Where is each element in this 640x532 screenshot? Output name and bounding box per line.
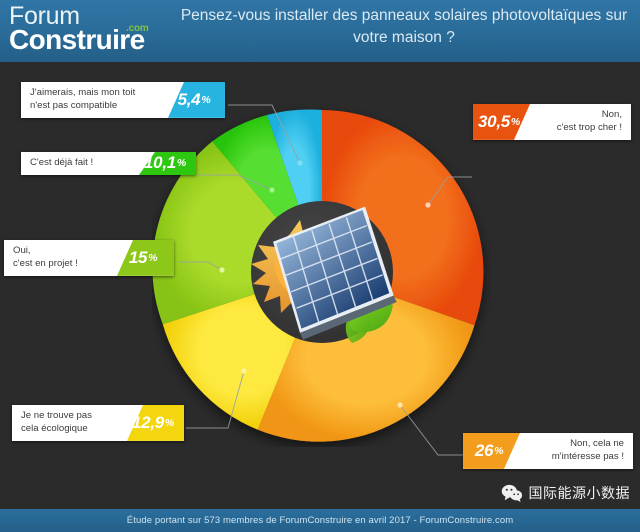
callout-label-non-pas-interesse: Non, cela ne m'intéresse pas ! bbox=[504, 433, 633, 469]
callout-label-pas-ecologique: Je ne trouve pas cela écologique bbox=[12, 405, 143, 441]
value-number: 30,5 bbox=[478, 112, 510, 132]
footer-bar: Étude portant sur 573 membres de ForumCo… bbox=[0, 509, 640, 532]
callout-non-trop-cher[interactable]: 30,5% Non, c'est trop cher ! bbox=[473, 104, 631, 140]
value-unit: % bbox=[148, 252, 157, 264]
watermark: 国际能源小数据 bbox=[501, 483, 631, 503]
infographic-canvas: Forum Construire .com Pensez-vous instal… bbox=[0, 0, 640, 532]
forum-construire-logo[interactable]: Forum Construire .com bbox=[9, 4, 174, 56]
callout-oui-en-projet[interactable]: Oui, c'est en projet ! 15% bbox=[4, 240, 174, 276]
footer-text: Étude portant sur 573 membres de ForumCo… bbox=[0, 509, 640, 532]
page-title: Pensez-vous installer des panneaux solai… bbox=[175, 5, 633, 50]
callout-label-cest-deja-fait: C'est déjà fait ! bbox=[21, 152, 155, 175]
callout-label-oui-en-projet: Oui, c'est en projet ! bbox=[4, 240, 133, 276]
callout-label-non-trop-cher: Non, c'est trop cher ! bbox=[514, 104, 631, 140]
value-unit: % bbox=[494, 445, 503, 457]
wechat-icon bbox=[501, 484, 523, 502]
callout-pas-ecologique[interactable]: Je ne trouve pas cela écologique 12,9% bbox=[12, 405, 184, 441]
callout-non-pas-interesse[interactable]: 26% Non, cela ne m'intéresse pas ! bbox=[463, 433, 633, 469]
value-number: 15 bbox=[129, 248, 147, 268]
value-number: 26 bbox=[475, 441, 493, 461]
value-unit: % bbox=[177, 157, 186, 169]
value-unit: % bbox=[511, 116, 520, 128]
donut-chart-svg bbox=[152, 102, 492, 447]
callout-label-toit-non-compatible: J'aimerais, mais mon toit n'est pas comp… bbox=[21, 82, 184, 118]
callout-cest-deja-fait[interactable]: C'est déjà fait ! 10,1% bbox=[21, 152, 196, 175]
header-bar: Forum Construire .com Pensez-vous instal… bbox=[0, 0, 640, 62]
logo-line-2: Construire bbox=[9, 26, 174, 54]
donut-chart bbox=[152, 102, 492, 447]
logo-dotcom: .com bbox=[126, 24, 149, 34]
value-number: 5,4 bbox=[178, 90, 201, 110]
value-unit: % bbox=[201, 94, 210, 106]
callout-toit-non-compatible[interactable]: J'aimerais, mais mon toit n'est pas comp… bbox=[21, 82, 225, 118]
value-unit: % bbox=[165, 417, 174, 429]
watermark-text: 国际能源小数据 bbox=[529, 483, 631, 503]
